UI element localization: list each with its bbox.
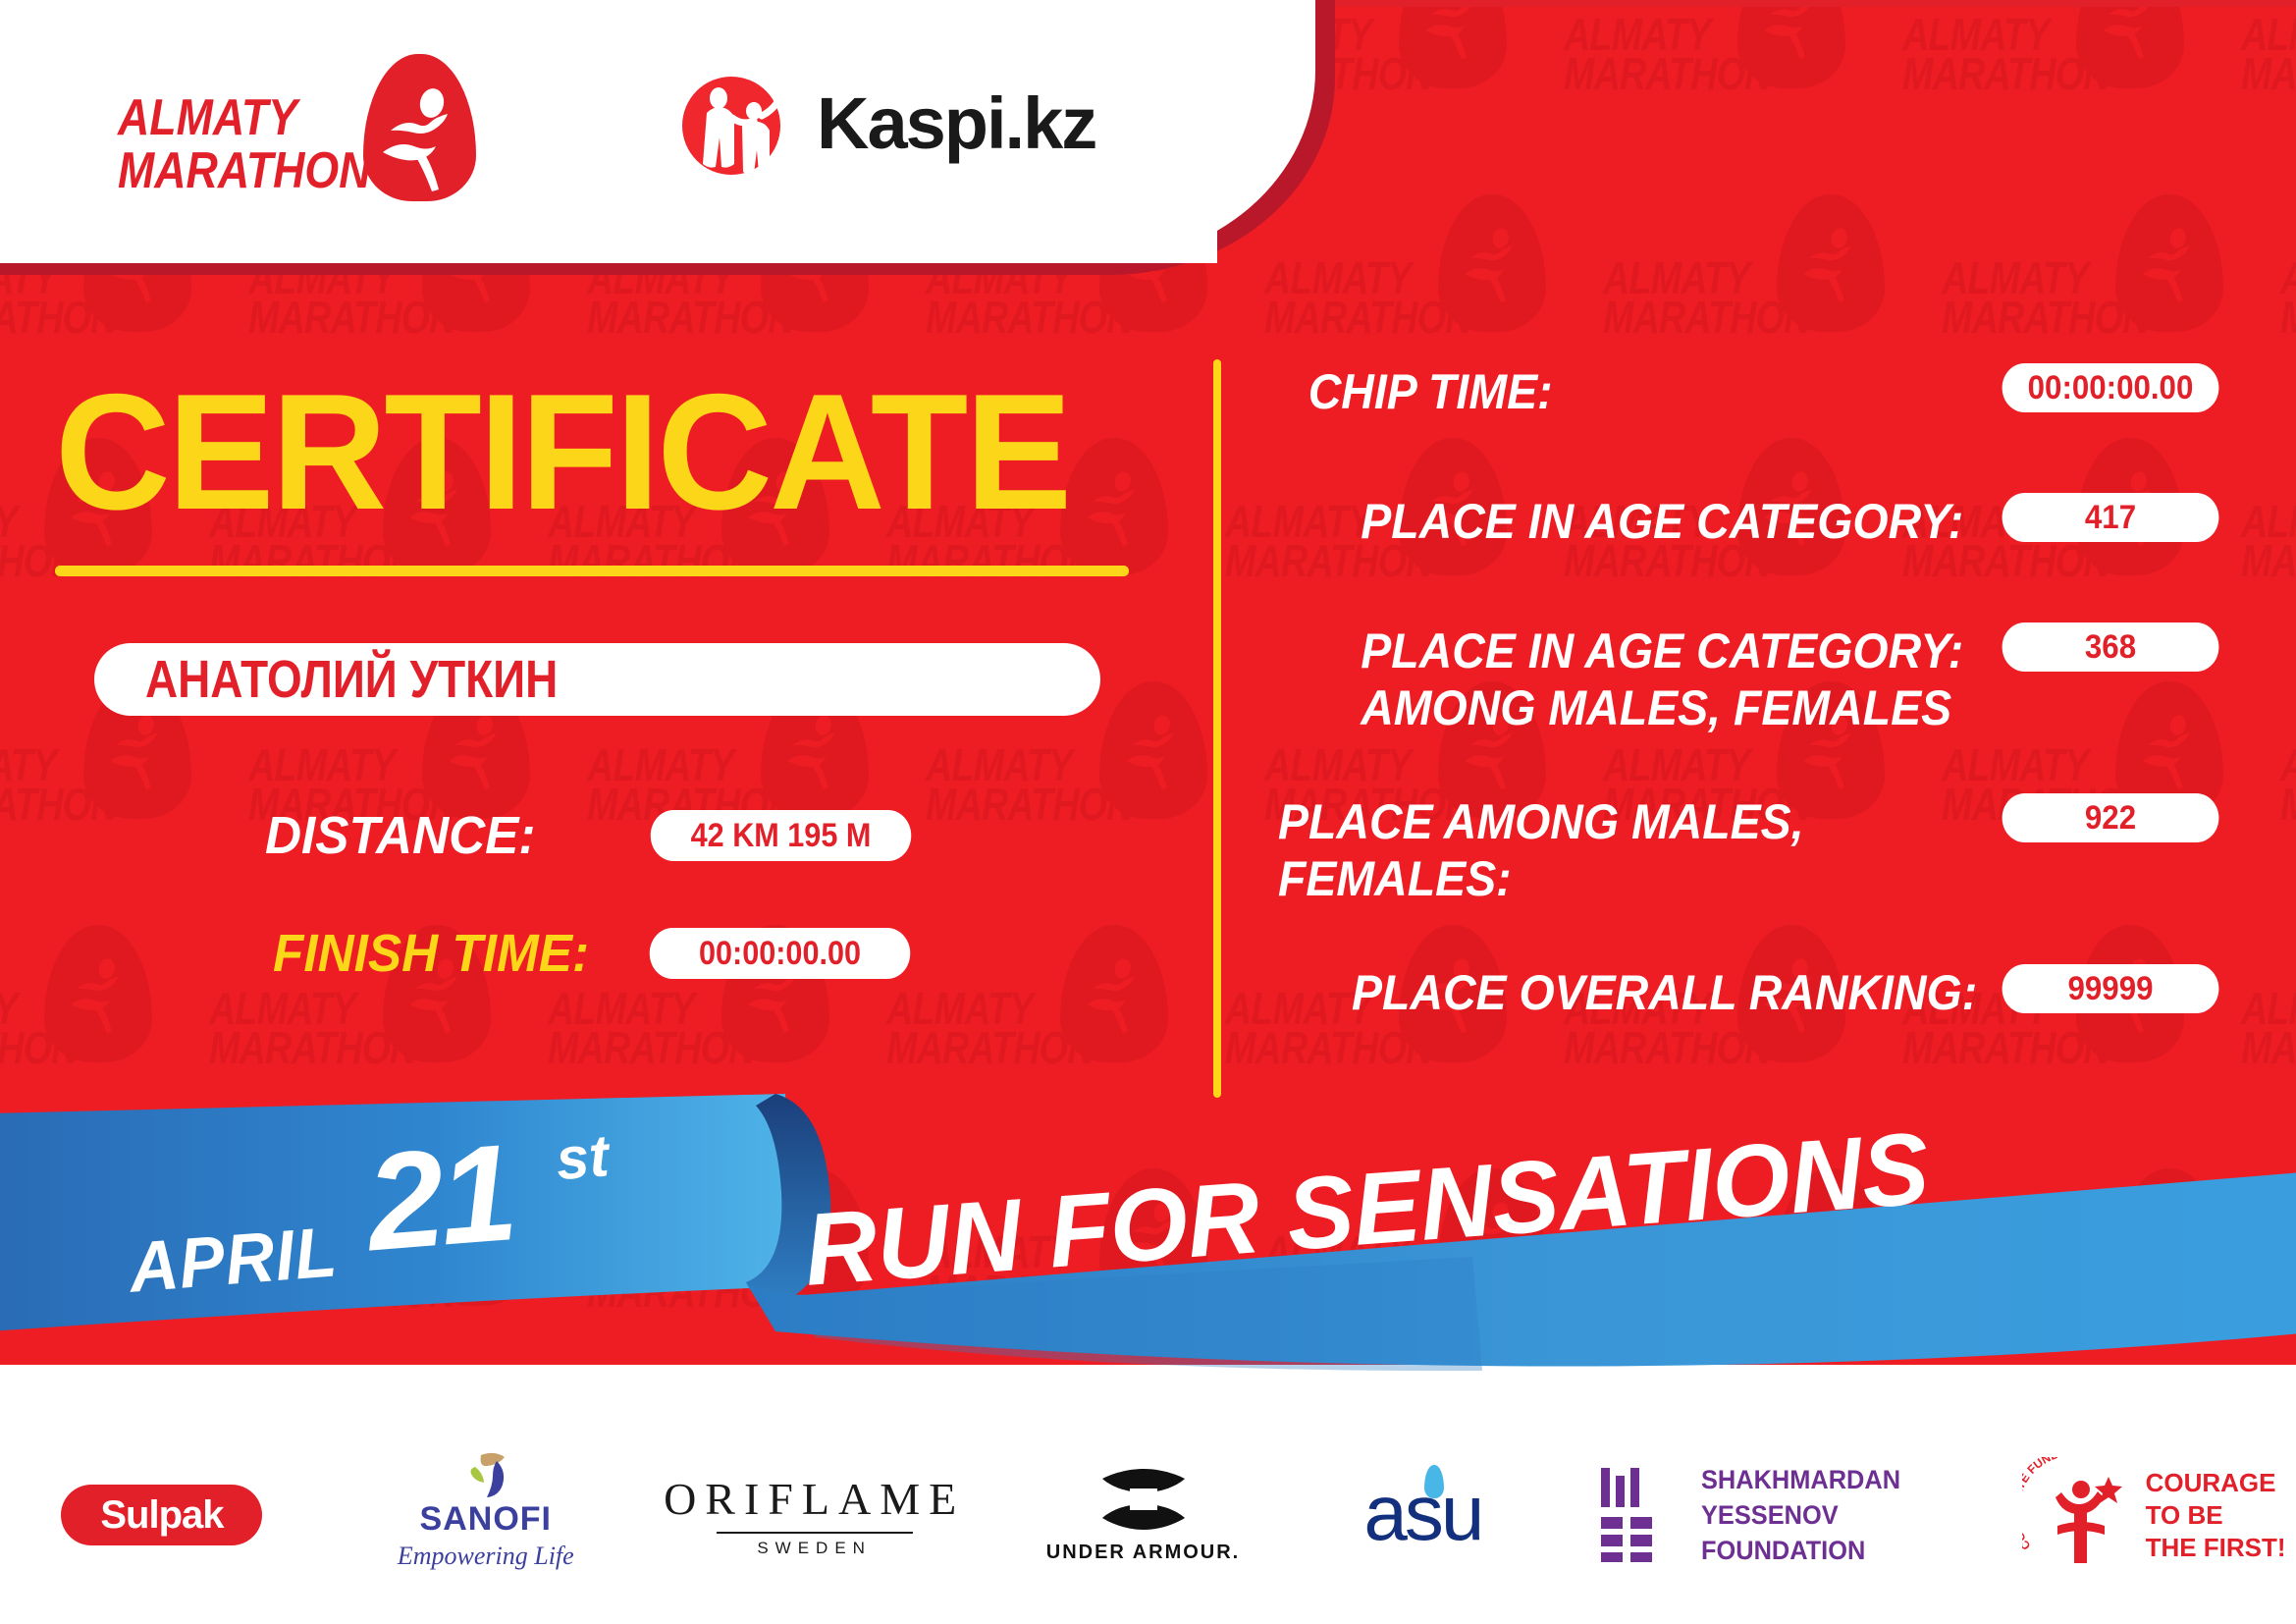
place-overall-value: 99999 (2002, 964, 2219, 1013)
place-age-gender-value: 368 (2002, 623, 2219, 672)
sanofi-logo: SANOFI Empowering Life (388, 1451, 584, 1579)
watermark-tile: ALMATYMARATHON (1556, 0, 1909, 187)
place-overall-label: PLACE OVERALL RANKING: (1352, 964, 1977, 1021)
kaspi-two-figures-icon (677, 69, 795, 177)
column-divider (1213, 359, 1221, 1098)
athlete-name-field: АНАТОЛИЙ УТКИН (94, 643, 1100, 716)
header-panel: ALMATY MARATHON (0, 0, 1374, 280)
ribbon-month: APRIL (127, 1212, 341, 1308)
logo-line-marathon: MARATHON (118, 144, 371, 197)
sulpak-logo: Sulpak (61, 1485, 262, 1545)
sponsor-sanofi: SANOFI Empowering Life (324, 1441, 648, 1589)
chip-time-value: 00:00:00.00 (2002, 363, 2219, 412)
sponsor-sulpak: Sulpak (0, 1441, 324, 1589)
under-armour-wordmark: UNDER ARMOUR. (1046, 1542, 1240, 1564)
title-underline (55, 566, 1129, 576)
place-age-gender-label: PLACE IN AGE CATEGORY: AMONG MALES, FEMA… (1361, 623, 1963, 736)
sponsor-oriflame: ORIFLAME SWEDEN (648, 1441, 982, 1589)
results-list: CHIP TIME: 00:00:00.00 PLACE IN AGE CATE… (1266, 363, 2228, 1021)
courage-fund-logo: CORPORATE FUND COURAGE TO BE THE FIRST! (2022, 1457, 2286, 1573)
runner-glyph-icon (375, 83, 465, 191)
finish-time-label: FINISH TIME: (273, 923, 589, 984)
result-row-place-age: PLACE IN AGE CATEGORY: 417 (1266, 493, 2228, 550)
kaspi-wordmark: Kaspi.kz (817, 81, 1095, 165)
ribbon-day: 21 (362, 1123, 517, 1272)
result-row-place-gender: PLACE AMONG MALES, FEMALES: 922 (1266, 793, 2228, 907)
finish-time-row: FINISH TIME: 00:00:00.00 (273, 923, 925, 984)
yessenov-wordmark: SHAKHMARDAN YESSENOV FOUNDATION (1701, 1462, 1993, 1568)
svg-text:CORPORATE FUND: CORPORATE FUND (2022, 1457, 2060, 1552)
result-row-place-overall: PLACE OVERALL RANKING: 99999 (1266, 964, 2228, 1021)
certificate-page: ALMATYMARATHONALMATYMARATHONALMATYMARATH… (0, 0, 2296, 1624)
sponsor-asu: asu (1305, 1441, 1599, 1589)
place-age-value: 417 (2002, 493, 2219, 542)
sponsor-courage-fund: CORPORATE FUND COURAGE TO BE THE FIRST! (2011, 1441, 2296, 1589)
chip-time-label: CHIP TIME: (1308, 363, 1553, 420)
sponsors-bar: Sulpak SANOFI Empowering Life ORIFLAME (0, 1406, 2296, 1624)
event-date-ribbon: APRIL 21 st RUN FOR SENSATIONS (0, 1090, 2296, 1394)
oriflame-tagline: SWEDEN (664, 1539, 965, 1558)
oriflame-wordmark: ORIFLAME (664, 1473, 965, 1525)
ribbon-ordinal: st (554, 1121, 612, 1193)
watermark-tile: ALMATYMARATHON (2272, 672, 2296, 917)
sanofi-bird-icon (452, 1451, 520, 1498)
result-row-place-age-gender: PLACE IN AGE CATEGORY: AMONG MALES, FEMA… (1266, 623, 2228, 736)
distance-row: DISTANCE: 42 KM 195 M (265, 805, 926, 866)
yessenov-bars-icon (1599, 1468, 1676, 1562)
kaspi-logo: Kaspi.kz (677, 69, 1095, 177)
yessenov-logo: SHAKHMARDAN YESSENOV FOUNDATION (1599, 1462, 2011, 1568)
sponsor-yessenov-foundation: SHAKHMARDAN YESSENOV FOUNDATION (1599, 1441, 2011, 1589)
place-gender-value: 922 (2002, 793, 2219, 842)
sanofi-wordmark: SANOFI (388, 1500, 584, 1539)
page-title: CERTIFICATE (55, 373, 1102, 530)
oriflame-logo: ORIFLAME SWEDEN (664, 1473, 965, 1558)
oriflame-rule (717, 1532, 913, 1534)
place-age-label: PLACE IN AGE CATEGORY: (1361, 493, 1963, 550)
courage-wordmark: COURAGE TO BE THE FIRST! (2146, 1467, 2286, 1564)
watermark-tile: ALMATYMARATHON (2233, 428, 2296, 674)
asu-wordmark: asu (1363, 1471, 1540, 1555)
almaty-marathon-logo: ALMATY MARATHON (118, 54, 461, 196)
finish-time-value: 00:00:00.00 (650, 928, 911, 979)
distance-value: 42 KM 195 M (651, 810, 912, 861)
under-armour-logo: UNDER ARMOUR. (1046, 1467, 1240, 1564)
courage-figure-icon: CORPORATE FUND (2022, 1457, 2140, 1573)
distance-label: DISTANCE: (265, 805, 536, 866)
asu-logo: asu (1363, 1471, 1540, 1559)
sanofi-tagline: Empowering Life (388, 1542, 584, 1571)
sponsor-under-armour: UNDER ARMOUR. (982, 1441, 1306, 1589)
logo-line-almaty: ALMATY (118, 91, 371, 144)
watermark-tile: ALMATYMARATHON (2272, 185, 2296, 430)
place-gender-label: PLACE AMONG MALES, FEMALES: (1278, 793, 1804, 907)
watermark-tile: ALMATYMARATHON (2233, 0, 2296, 187)
under-armour-icon (1087, 1467, 1201, 1532)
result-row-chip-time: CHIP TIME: 00:00:00.00 (1266, 363, 2228, 420)
watermark-tile: ALMATYMARATHON (1895, 0, 2248, 187)
athlete-name-value: АНАТОЛИЙ УТКИН (145, 649, 558, 710)
